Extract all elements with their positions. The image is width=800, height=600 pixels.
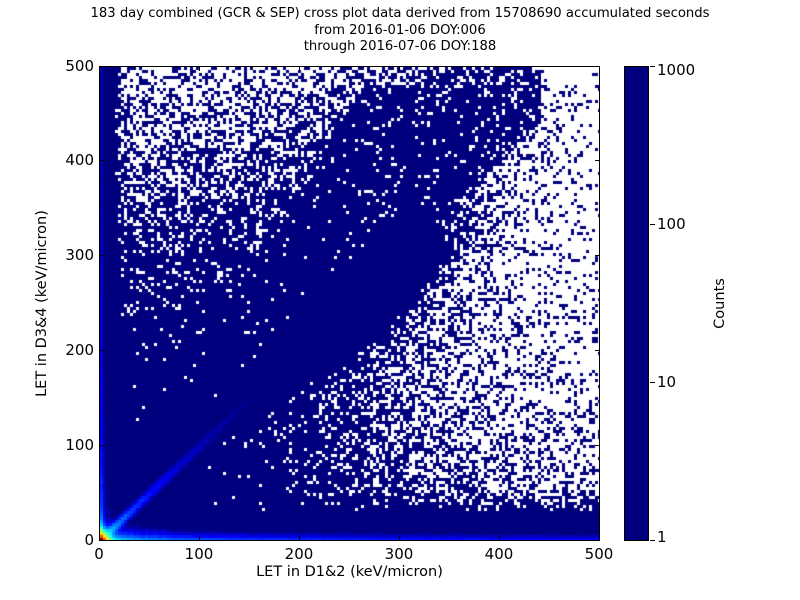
ytick-200 [99,350,104,351]
ytick-right-500 [595,66,600,67]
xtick-200 [299,536,300,541]
colorbar-axis-label: Counts [712,66,728,541]
colorbar-tick-10 [650,382,655,383]
ytick-400 [99,160,104,161]
plot-title-line-1: 183 day combined (GCR & SEP) cross plot … [0,6,800,23]
xtick-400 [499,536,500,541]
xtick-top-300 [399,66,400,71]
ytick-label-300: 300 [65,246,94,264]
ytick-right-100 [595,445,600,446]
ytick-right-200 [595,350,600,351]
ytick-label-400: 400 [65,151,94,169]
xtick-label-500: 500 [585,545,614,563]
xtick-label-400: 400 [485,545,514,563]
xtick-label-0: 0 [94,545,104,563]
colorbar [624,66,649,541]
plot-area [99,66,600,541]
colorbar-label-100: 100 [657,215,686,233]
plot-title-line-3: through 2016-07-06 DOY:188 [0,39,800,56]
ytick-right-400 [595,160,600,161]
ytick-500 [99,66,104,67]
ytick-300 [99,255,104,256]
colorbar-label-1: 1 [657,528,667,546]
xtick-top-200 [299,66,300,71]
colorbar-label-1000: 1000 [657,61,695,79]
x-axis-label: LET in D1&2 (keV/micron) [99,564,600,580]
xtick-label-100: 100 [185,545,214,563]
ytick-label-200: 200 [65,341,94,359]
xtick-300 [399,536,400,541]
xtick-top-100 [199,66,200,71]
ytick-100 [99,445,104,446]
figure-canvas: 183 day combined (GCR & SEP) cross plot … [0,0,800,600]
plot-title-line-2: from 2016-01-06 DOY:006 [0,23,800,40]
xtick-label-300: 300 [385,545,414,563]
ytick-right-300 [595,255,600,256]
plot-title: 183 day combined (GCR & SEP) cross plot … [0,6,800,56]
xtick-label-200: 200 [285,545,314,563]
ytick-right-0 [595,540,600,541]
colorbar-label-10: 10 [657,373,676,391]
colorbar-tick-100 [650,224,655,225]
colorbar-tick-1000 [650,66,655,67]
density-scatter-plot [100,67,600,541]
colorbar-gradient [625,67,648,540]
colorbar-tick-1 [650,540,655,541]
y-axis-label: LET in D3&4 (keV/micron) [34,66,50,541]
xtick-top-400 [499,66,500,71]
ytick-label-100: 100 [65,436,94,454]
ytick-0 [99,540,104,541]
ytick-label-0: 0 [84,531,94,549]
xtick-100 [199,536,200,541]
ytick-label-500: 500 [65,57,94,75]
